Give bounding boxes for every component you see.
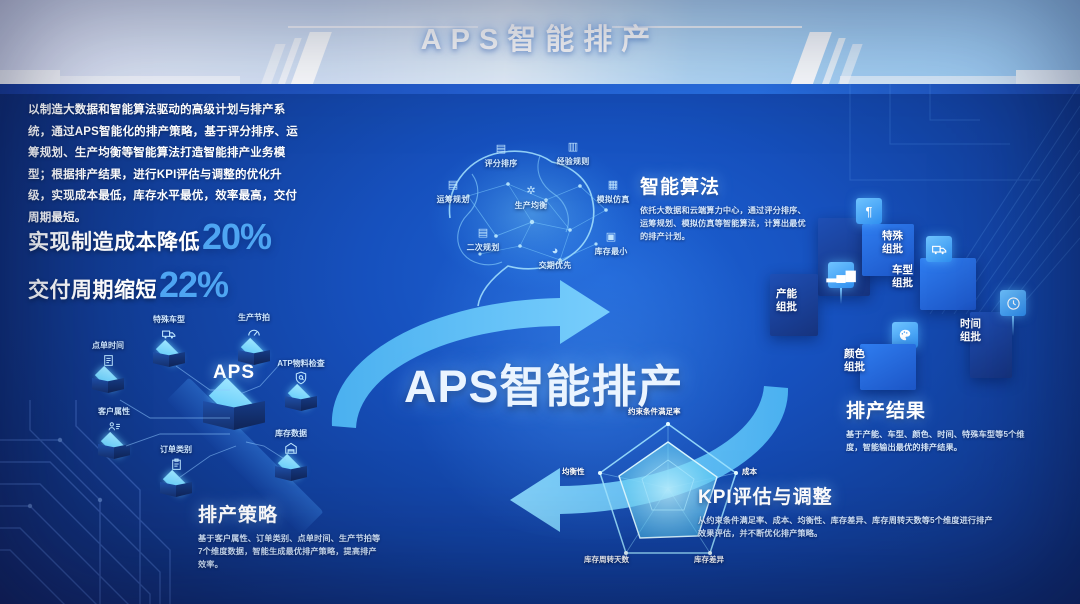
radar-label-inventory-variance: 库存差异 [694,554,724,565]
header-step-right [1016,70,1080,84]
truck-icon [926,236,952,262]
clipboard-icon: ▤ [477,226,490,240]
edit-document-icon: ▥ [567,140,580,154]
brain-node-label: 模拟仿真 [584,194,642,205]
brain-node-delivery-priority: ◕ 交期优先 [526,244,584,271]
brain-node-secondary-planning: ▤ 二次规划 [454,226,512,253]
brain-node-label: 交期优先 [526,260,584,271]
shield-check-icon [293,370,309,386]
brain-graphic: ▤ 评分排序 ▥ 经验规则 ▤ 运筹规划 ✲ 生产均衡 ▦ 模拟仿真 ▤ 二次规… [420,126,655,311]
header-step-left-2 [60,76,240,84]
brain-node-scoring: ▤ 评分排序 [472,142,530,169]
brain-node-label: 评分排序 [472,158,530,169]
header-band: APS智能排产 [0,0,1080,84]
box-icon: ▣ [605,230,618,244]
gear-icon: ✲ [525,184,538,198]
strategy-node-label: 特殊车型 [133,314,205,325]
bar-chart-icon: ▂▄▆ [828,262,854,288]
intro-paragraph: 以制造大数据和智能算法驱动的高级计划与排产系统，通过APS智能化的排产策略，基于… [28,100,300,229]
section-desc-kpi: 从约束条件满足率、成本、均衡性、库存差异、库存周转天数等5个维度进行排产效果评估… [698,514,998,540]
document-icon [100,352,116,368]
result-stem-time [1012,316,1014,336]
brain-node-label: 库存最小 [582,246,640,257]
stat-row-delivery: 交付周期缩短 22% [28,264,358,306]
brain-node-label: 二次规划 [454,242,512,253]
radar-label-cost: 成本 [742,466,757,477]
badge-icon: ◕ [549,244,562,258]
stat-value-delivery: 22% [159,264,228,306]
strategy-node-label: ATP物料检查 [265,358,337,369]
page-title: APS智能排产 [0,16,1080,58]
document-icon: ▤ [495,142,508,156]
stat-label-cost: 实现制造成本降低 [28,226,200,256]
brain-node-label: 经验规则 [544,156,602,167]
strategy-node-label: 库存数据 [255,428,327,439]
strategy-node-label: 客户属性 [78,406,150,417]
user-list-icon [106,418,122,434]
cube-shape [91,369,125,399]
section-title-kpi: KPI评估与调整 [698,482,998,509]
strategy-node-inventory-data: 库存数据 [255,428,327,487]
brain-node-label: 生产均衡 [502,200,560,211]
result-label-time: 时间组批 [960,318,990,343]
radar-label-inventory-turnover: 库存周转天数 [584,554,629,565]
brain-node-label: 运筹规划 [424,194,482,205]
aps-poster: APS智能排产 以制造大数据和智能算法驱动的高级计划与排产系统，通过APS智能 [0,0,1080,604]
strategy-node-label: 订单类别 [140,444,212,455]
clock-icon [1000,290,1026,316]
brain-node-experience-rule: ▥ 经验规则 [544,140,602,167]
strategy-node-order-category: 订单类别 [140,444,212,503]
result-label-capacity: 产能组批 [776,288,806,313]
strategy-node-label: 点单时间 [72,340,144,351]
speed-icon [246,324,262,340]
brain-node-balance: ✲ 生产均衡 [502,184,560,211]
stats-block: 实现制造成本降低 20% 交付周期缩短 22% [28,216,358,312]
note-pencil-icon: ▤ [447,178,460,192]
radar-label-constraint: 约束条件满足率 [628,406,681,417]
brain-mesh-icon [420,126,655,311]
brain-node-min-inventory: ▣ 库存最小 [582,230,640,257]
header-step-left [0,70,60,84]
cube-shape [159,473,193,503]
chart-icon: ▦ [607,178,620,192]
section-desc-strategy: 基于客户属性、订单类别、点单时间、生产节拍等7个维度数据，智能生成最优排产策略，… [198,532,383,571]
cube-shape [97,435,131,465]
result-panels: ¶ 特殊组批 ▂▄▆ 产能组批 车型组批 颜色组批 [770,196,1070,396]
cube-shape [152,343,186,373]
section-title-strategy: 排产策略 [198,500,383,527]
warehouse-icon [283,440,299,456]
strategy-node-atp-material-check: ATP物料检查 [265,358,337,417]
section-title-algorithm: 智能算法 [640,172,810,199]
stat-value-cost: 20% [202,216,271,258]
cube-shape [274,457,308,487]
result-slab-model [920,258,976,310]
section-result: 排产结果 基于产能、车型、颜色、时间、特殊车型等5个维度，智能输出最优的排产结果… [846,396,1041,454]
strategy-node-label: 生产节拍 [218,312,290,323]
header-step-right-2 [840,76,1016,84]
result-label-color: 颜色组批 [844,348,874,373]
section-kpi: KPI评估与调整 从约束条件满足率、成本、均衡性、库存差异、库存周转天数等5个维… [698,482,998,540]
truck-icon [161,326,177,342]
section-title-result: 排产结果 [846,396,1041,423]
section-desc-result: 基于产能、车型、颜色、时间、特殊车型等5个维度，智能输出最优的排产结果。 [846,428,1041,454]
radar-label-balance: 均衡性 [562,466,585,477]
brain-node-or-planning: ▤ 运筹规划 [424,178,482,205]
result-label-model: 车型组批 [892,264,922,289]
stat-label-delivery: 交付周期缩短 [28,274,157,304]
cube-shape [284,387,318,417]
strategy-node-order-time: 点单时间 [72,340,144,399]
section-strategy: 排产策略 基于客户属性、订单类别、点单时间、生产节拍等7个维度数据，智能生成最优… [198,500,383,571]
header-underline [0,84,1080,94]
stat-row-cost: 实现制造成本降低 20% [28,216,358,258]
paragraph-icon: ¶ [856,198,882,224]
clipboard-icon [168,456,184,472]
brain-node-simulation: ▦ 模拟仿真 [584,178,642,205]
result-stem-capacity [840,288,842,304]
result-label-special: 特殊组批 [882,230,912,255]
